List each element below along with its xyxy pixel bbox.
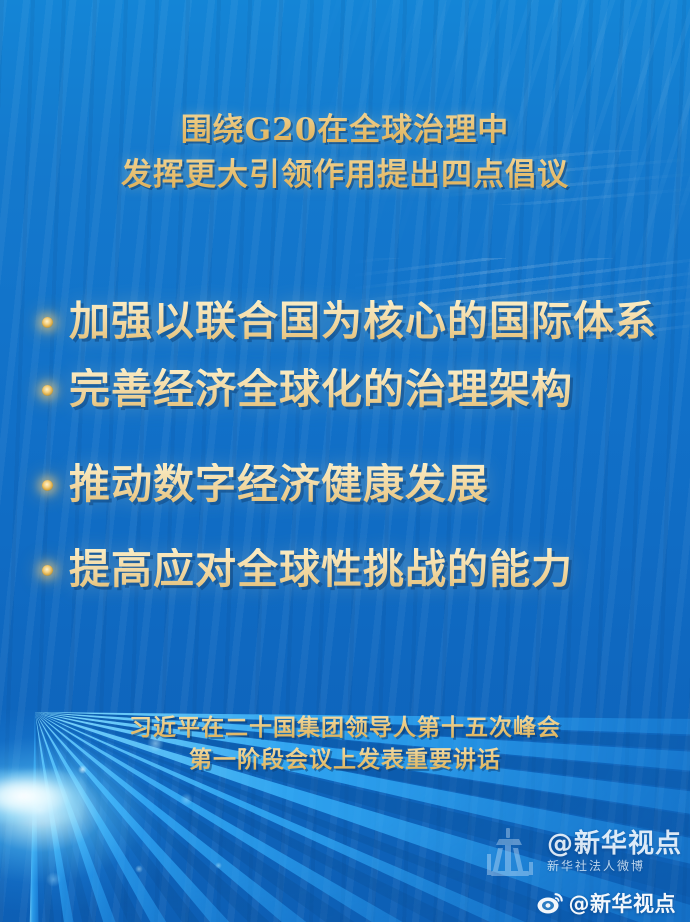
proposal-list: 加强以联合国为核心的国际体系 完善经济全球化的治理架构 推动数字经济健康发展 提… bbox=[0, 300, 690, 591]
proposal-item: 加强以联合国为核心的国际体系 bbox=[0, 300, 690, 343]
bullet-dot-icon bbox=[42, 385, 53, 396]
weibo-eye-icon bbox=[537, 892, 564, 914]
bullet-dot-icon bbox=[42, 480, 53, 491]
footer-line-2: 第一阶段会议上发表重要讲话 bbox=[0, 744, 690, 776]
proposal-text: 加强以联合国为核心的国际体系 bbox=[69, 300, 657, 343]
g20-infographic-poster: 围绕G20在全球治理中 发挥更大引领作用提出四点倡议 加强以联合国为核心的国际体… bbox=[0, 0, 690, 922]
proposal-item: 提高应对全球性挑战的能力 bbox=[0, 548, 690, 591]
weibo-watermark: @新华视点 bbox=[537, 888, 677, 918]
proposal-text: 完善经济全球化的治理架构 bbox=[69, 368, 573, 411]
footer-line-1: 习近平在二十国集团领导人第十五次峰会 bbox=[0, 712, 690, 744]
xinhua-watermark: @新华视点 新华社法人微博 bbox=[479, 826, 682, 878]
poster-title: 围绕G20在全球治理中 发挥更大引领作用提出四点倡议 bbox=[0, 108, 690, 198]
proposal-item: 完善经济全球化的治理架构 bbox=[0, 368, 690, 411]
proposal-text: 提高应对全球性挑战的能力 bbox=[69, 548, 573, 591]
bullet-dot-icon bbox=[42, 565, 53, 576]
weibo-account-name: @新华视点 bbox=[569, 888, 677, 918]
title-line-1: 围绕G20在全球治理中 bbox=[0, 108, 690, 153]
proposal-item: 推动数字经济健康发展 bbox=[0, 463, 690, 506]
watermark-texts: @新华视点 新华社法人微博 bbox=[547, 830, 682, 874]
watermark-account: @新华视点 bbox=[547, 830, 682, 858]
proposal-text: 推动数字经济健康发展 bbox=[69, 463, 489, 506]
title-line-2: 发挥更大引领作用提出四点倡议 bbox=[0, 153, 690, 198]
poster-footer-caption: 习近平在二十国集团领导人第十五次峰会 第一阶段会议上发表重要讲话 bbox=[0, 712, 690, 776]
xinhua-logo-icon bbox=[479, 826, 541, 878]
bullet-dot-icon bbox=[42, 317, 53, 328]
watermark-subtitle: 新华社法人微博 bbox=[547, 858, 682, 874]
